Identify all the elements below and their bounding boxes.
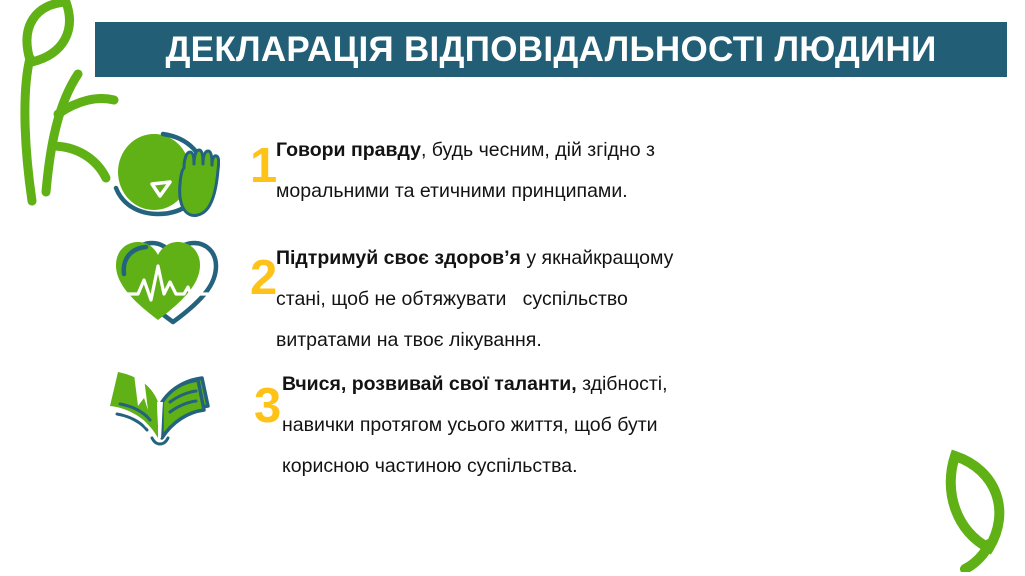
item-2-line-1-bold: Підтримуй своє здоров’я — [276, 247, 521, 269]
item-2-line-3-rest: витратами на твоє лікування. — [276, 329, 542, 351]
item-1-line-2: моральними та етичними принципами. — [276, 171, 766, 212]
item-3-line-3: корисною частиною суспільства. — [282, 446, 782, 487]
item-3-line-3-rest: корисною частиною суспільства. — [282, 455, 578, 477]
title-banner: ДЕКЛАРАЦІЯ ВІДПОВІДАЛЬНОСТІ ЛЮДИНИ — [95, 22, 1007, 77]
heart-with-heartbeat-icon — [108, 232, 220, 328]
leaf-bottom-right-icon — [927, 436, 1023, 572]
open-book-icon — [100, 358, 220, 454]
item-1-line-1-rest: , будь чесним, дій згідно з — [421, 139, 655, 161]
page-title: ДЕКЛАРАЦІЯ ВІДПОВІДАЛЬНОСТІ ЛЮДИНИ — [165, 32, 936, 67]
item-1-line-1: Говори правду, будь чесним, дій згідно з — [276, 130, 766, 171]
declaration-item-1: 1 Говори правду, будь чесним, дій згідно… — [108, 126, 766, 222]
item-1-line-2-rest: моральними та етичними принципами. — [276, 180, 628, 202]
item-number-2: 2 — [220, 232, 276, 303]
declaration-item-2: 2 Підтримуй своє здоров’я у якнайкращому… — [108, 232, 776, 361]
item-number-1: 1 — [220, 126, 276, 191]
item-2-line-2-rest: стані, щоб не обтяжувати суспільство — [276, 288, 628, 310]
slide-canvas: ДЕКЛАРАЦІЯ ВІДПОВІДАЛЬНОСТІ ЛЮДИНИ 1 Гов… — [0, 0, 1025, 576]
item-3-line-1-rest: здібності, — [577, 373, 668, 395]
item-number-3: 3 — [220, 358, 276, 431]
item-text-1: Говори правду, будь чесним, дій згідно з… — [276, 126, 766, 212]
item-2-line-1: Підтримуй своє здоров’я у якнайкращому — [276, 238, 776, 279]
item-3-line-2-rest: навички протягом усього життя, щоб бути — [282, 414, 658, 436]
speaking-head-with-hand-icon — [108, 126, 220, 222]
item-text-3: Вчися, розвивай свої таланти, здібності,… — [276, 358, 782, 487]
item-1-line-1-bold: Говори правду — [276, 139, 421, 161]
item-3-line-1: Вчися, розвивай свої таланти, здібності, — [282, 364, 782, 405]
item-3-line-2: навички протягом усього життя, щоб бути — [282, 405, 782, 446]
item-2-line-1-rest: у якнайкращому — [521, 247, 673, 269]
item-text-2: Підтримуй своє здоров’я у якнайкращому с… — [276, 232, 776, 361]
item-3-line-1-bold: Вчися, розвивай свої таланти, — [282, 373, 577, 395]
item-2-line-3: витратами на твоє лікування. — [276, 320, 776, 361]
declaration-item-3: 3 Вчися, розвивай свої таланти, здібност… — [100, 358, 782, 487]
item-2-line-2: стані, щоб не обтяжувати суспільство — [276, 279, 776, 320]
